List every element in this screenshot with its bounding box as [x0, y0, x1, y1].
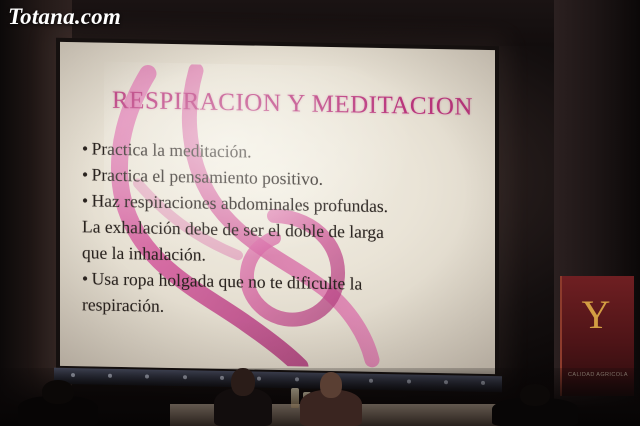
- projection-screen: RESPIRACION Y MEDITACION •Practica la me…: [60, 42, 495, 374]
- bullet-marker: •: [82, 136, 92, 161]
- bullet-marker: •: [82, 188, 92, 213]
- list-item-text: Usa ropa holgada que no te dificulte la: [92, 268, 363, 293]
- projection-screen-frame: RESPIRACION Y MEDITACION •Practica la me…: [56, 38, 499, 385]
- audience-head-foreground-right: [492, 386, 578, 426]
- head: [320, 372, 342, 398]
- seated-man-right: [300, 372, 362, 426]
- bullet-marker: •: [82, 266, 92, 291]
- head: [520, 384, 550, 406]
- head: [231, 368, 255, 396]
- list-item-text: respiración.: [82, 294, 164, 316]
- seated-woman-left: [214, 370, 272, 426]
- bottle: [291, 388, 299, 408]
- list-item-text: que la inhalación.: [82, 242, 206, 264]
- list-item-text: Practica la meditación.: [92, 138, 252, 161]
- site-watermark: Totana.com: [8, 4, 121, 30]
- list-item-text: La exhalación debe de ser el doble de la…: [82, 216, 384, 242]
- slide-bullet-list: •Practica la meditación. •Practica el pe…: [82, 136, 482, 326]
- head: [42, 380, 74, 404]
- photo-scene: RESPIRACION Y MEDITACION •Practica la me…: [0, 0, 640, 426]
- list-item-text: Practica el pensamiento positivo.: [92, 164, 323, 188]
- list-item-text: Haz respiraciones abdominales profundas.: [92, 190, 388, 216]
- banner-logo-icon: Y: [576, 288, 616, 344]
- bullet-marker: •: [82, 162, 92, 187]
- audience-head-foreground-left: [18, 382, 98, 426]
